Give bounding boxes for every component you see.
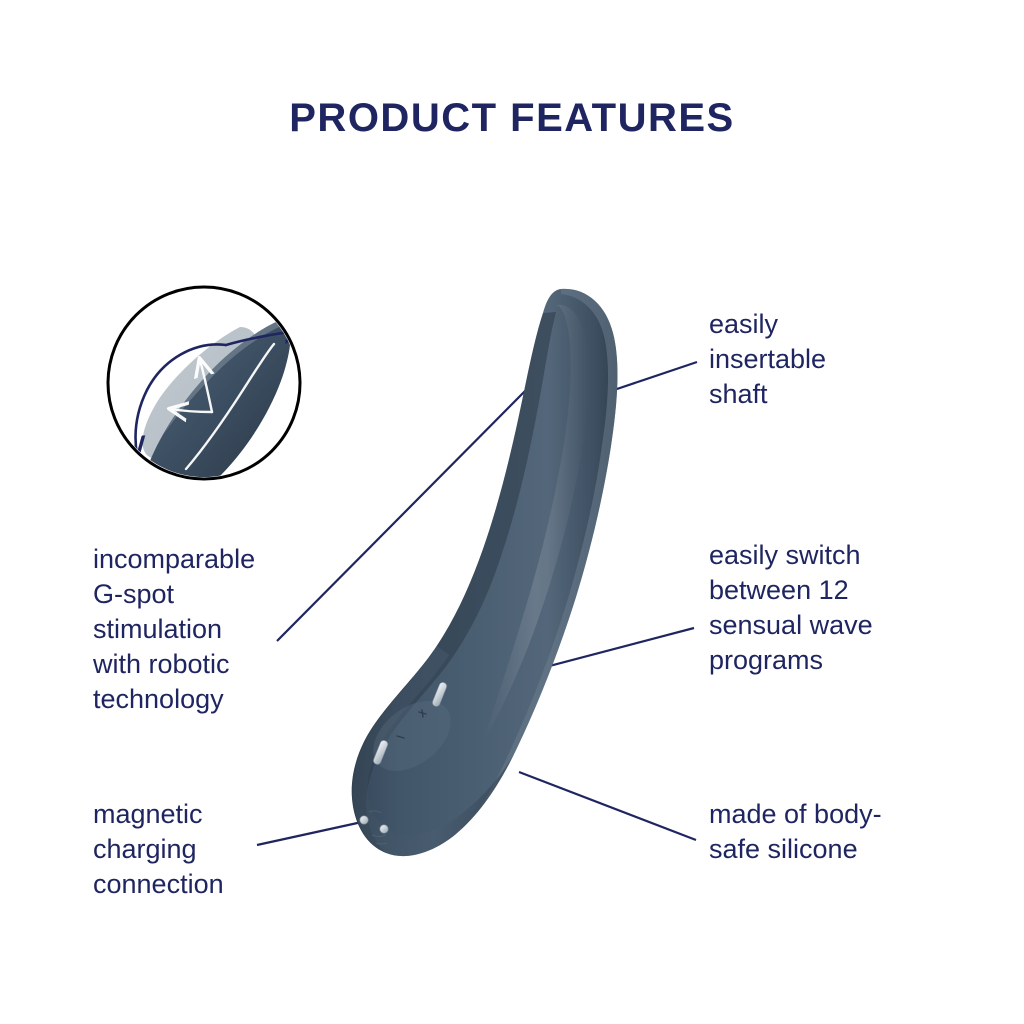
feature-label-insertable-shaft: easily insertable shaft bbox=[709, 307, 989, 412]
leader-line-shaft bbox=[608, 362, 697, 392]
product-illustration bbox=[352, 289, 618, 856]
feature-label-magnetic-charging: magnetic charging connection bbox=[93, 797, 343, 902]
plus-symbol-v bbox=[422, 710, 423, 717]
feature-label-wave-programs: easily switch between 12 sensual wave pr… bbox=[709, 538, 989, 678]
feature-label-body-safe-silicone: made of body- safe silicone bbox=[709, 797, 989, 867]
charging-pin-1 bbox=[360, 816, 368, 824]
robotic-motion-inset bbox=[108, 287, 302, 513]
feature-label-gspot: incomparable G-spot stimulation with rob… bbox=[93, 542, 343, 717]
charging-pin-2 bbox=[380, 825, 388, 833]
infographic-canvas: PRODUCT FEATURES bbox=[0, 0, 1024, 1024]
leader-line-silicone bbox=[519, 772, 696, 840]
